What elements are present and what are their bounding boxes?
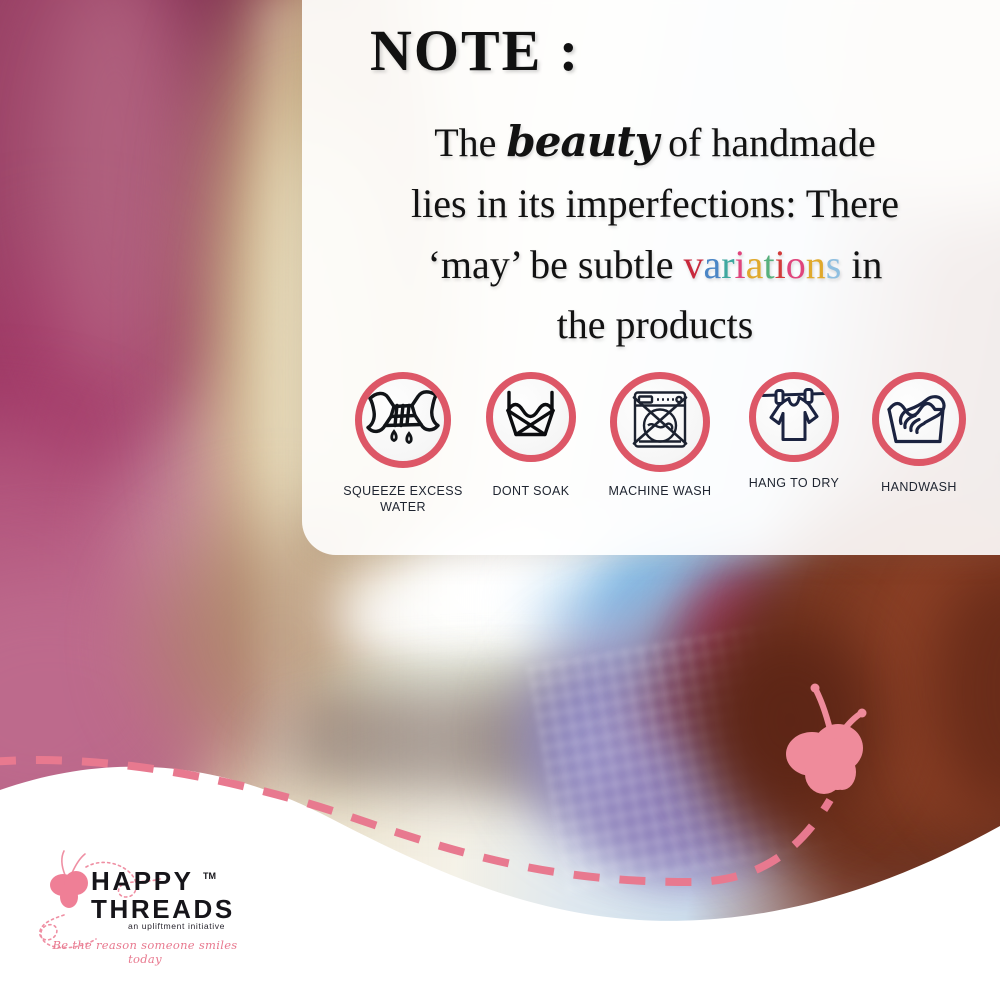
note-heading: NOTE : <box>370 22 630 80</box>
no-machine-wash-icon <box>610 372 710 472</box>
promo-banner: NOTE : The beauty of handmade lies in it… <box>0 0 1000 1000</box>
variations-letter: s <box>826 242 842 287</box>
logo-line-2: THREADS <box>91 895 235 923</box>
no-soak-basin-icon-glyph <box>500 387 562 448</box>
handwash-icon <box>872 372 966 466</box>
quote-line-3-post: in <box>841 242 882 287</box>
variations-letter: i <box>735 242 746 287</box>
variations-letter: o <box>786 242 806 287</box>
logo-tagline: Be the reason someone smiles today <box>40 938 250 966</box>
no-machine-wash-icon-glyph <box>627 389 693 456</box>
care-icon-handwash: HANDWASH <box>844 372 994 496</box>
variations-letter: a <box>703 242 721 287</box>
care-icon-machine-wash: MACHINE WASH <box>585 372 735 500</box>
hang-to-dry-icon <box>749 372 839 462</box>
trademark-symbol: TM <box>203 871 216 881</box>
quote-word-beauty: beauty <box>506 117 658 166</box>
quote-line-1-post: of handmade <box>658 120 876 165</box>
quote-block: The beauty of handmade lies in its imper… <box>330 110 980 356</box>
brand-logo[interactable]: HAPPY THREADS TM an upliftment initiativ… <box>28 845 258 970</box>
wrung-cloth-icon-glyph <box>364 387 442 454</box>
quote-line-3: ‘may’ be subtle variations in <box>330 235 980 296</box>
variations-letter: t <box>763 242 774 287</box>
quote-line-1-pre: The <box>434 120 506 165</box>
quote-line-3-pre: ‘may’ be subtle <box>428 242 684 287</box>
variations-letter: v <box>683 242 703 287</box>
variations-letter: a <box>746 242 764 287</box>
care-instruction-row: SQUEEZE EXCESS WATERDONT SOAKMACHINE WAS… <box>302 372 1000 532</box>
quote-line-1: The beauty of handmade <box>330 110 980 174</box>
butterfly-icon <box>776 676 886 796</box>
variations-letter: n <box>806 242 826 287</box>
care-icon-label: MACHINE WASH <box>585 484 735 500</box>
variations-letter: i <box>775 242 786 287</box>
wrung-cloth-icon <box>355 372 451 468</box>
quote-line-4: the products <box>330 295 980 356</box>
care-icon-label: DONT SOAK <box>456 484 606 500</box>
variations-letter: r <box>721 242 734 287</box>
logo-subtitle: an upliftment initiative <box>128 921 225 931</box>
no-soak-basin-icon <box>486 372 576 462</box>
handwash-icon-glyph <box>885 388 953 451</box>
quote-line-2: lies in its imperfections: There <box>330 174 980 235</box>
hang-to-dry-icon-glyph <box>761 386 827 449</box>
quote-word-variations: variations <box>683 242 841 287</box>
care-icon-dont-soak: DONT SOAK <box>456 372 606 500</box>
care-icon-label: HANDWASH <box>844 480 994 496</box>
